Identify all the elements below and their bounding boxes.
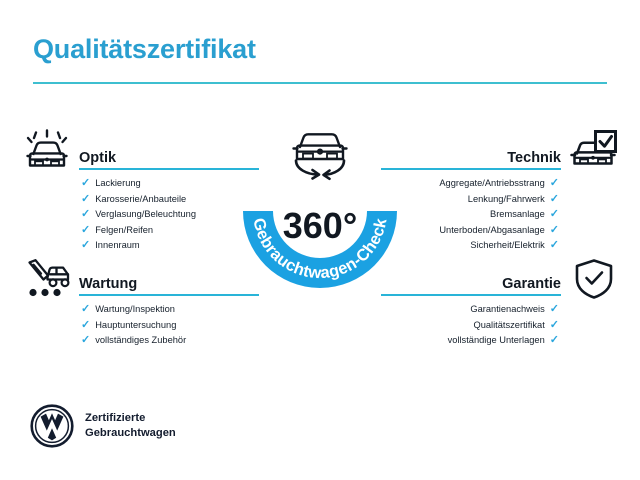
section-header: Wartung: [79, 269, 259, 295]
badge-center-label: 360°: [283, 205, 357, 246]
list-item-label: Sicherheit/Elektrik: [470, 241, 544, 250]
section-title: Wartung: [79, 276, 137, 292]
section-divider: [381, 168, 561, 170]
list-item: ✓ Hauptuntersuchung: [81, 318, 259, 334]
list-item-label: Bremsanlage: [490, 210, 545, 219]
list-item-label: Lackierung: [95, 179, 140, 188]
list-item: ✓ Felgen/Reifen: [81, 223, 259, 239]
car-checkbox-icon: [568, 129, 618, 173]
certificate-page: Qualitätszertifikat: [0, 0, 640, 480]
list-item: ✓ Verglasung/Beleuchtung: [81, 207, 259, 223]
vw-logo-icon: [30, 404, 74, 448]
check-icon: ✓: [550, 225, 559, 236]
check-icon: ✓: [550, 335, 559, 346]
list-item-label: Hauptuntersuchung: [95, 321, 176, 330]
section-header: Technik: [381, 143, 561, 169]
list-item: ✓ Innenraum: [81, 238, 259, 254]
check-icon: ✓: [81, 335, 90, 346]
list-item-label: Unterboden/Abgasanlage: [439, 226, 544, 235]
section-header: Optik: [79, 143, 259, 169]
section-title: Optik: [79, 150, 116, 166]
wrench-car-icon: [22, 257, 72, 301]
section-title: Garantie: [502, 276, 561, 292]
title-divider: [33, 82, 607, 84]
check-icon: ✓: [81, 304, 90, 315]
section-optik: Optik ✓ Lackierung ✓ Karosserie/Anbautei…: [79, 143, 259, 254]
check-icon: ✓: [550, 320, 559, 331]
section-header: Garantie: [381, 269, 561, 295]
shield-check-icon: [570, 257, 618, 301]
check-icon: ✓: [81, 209, 90, 220]
list-item: Qualitätszertifikat ✓: [381, 318, 559, 334]
list-item-label: Verglasung/Beleuchtung: [95, 210, 196, 219]
check-icon: ✓: [81, 320, 90, 331]
list-item: vollständige Unterlagen ✓: [381, 333, 559, 349]
check-icon: ✓: [550, 304, 559, 315]
list-item-label: Garantienachweis: [470, 305, 544, 314]
list-item: Aggregate/Antriebsstrang ✓: [381, 176, 559, 192]
list-item: ✓ vollständiges Zubehör: [81, 333, 259, 349]
list-item: ✓ Karosserie/Anbauteile: [81, 192, 259, 208]
list-item-label: Aggregate/Antriebsstrang: [439, 179, 544, 188]
car-shine-icon: [22, 129, 72, 173]
checklist: ✓ Wartung/Inspektion ✓ Hauptuntersuchung…: [79, 302, 259, 349]
check-icon: ✓: [81, 178, 90, 189]
list-item: ✓ Wartung/Inspektion: [81, 302, 259, 318]
list-item-label: Qualitätszertifikat: [473, 321, 544, 330]
list-item-label: vollständiges Zubehör: [95, 336, 186, 345]
list-item-label: Innenraum: [95, 241, 139, 250]
list-item-label: Felgen/Reifen: [95, 226, 153, 235]
check-icon: ✓: [550, 194, 559, 205]
footer-text: Zertifizierte Gebrauchtwagen: [85, 411, 176, 441]
section-divider: [79, 294, 259, 296]
list-item-label: vollständige Unterlagen: [448, 336, 545, 345]
page-title: Qualitätszertifikat: [33, 34, 256, 65]
footer-line-2: Gebrauchtwagen: [85, 426, 176, 441]
section-title: Technik: [507, 150, 561, 166]
check-icon: ✓: [81, 194, 90, 205]
car-rotate-icon: [284, 120, 356, 182]
checklist: Garantienachweis ✓ Qualitätszertifikat ✓…: [381, 302, 561, 349]
section-wartung: Wartung ✓ Wartung/Inspektion ✓ Hauptunte…: [79, 269, 259, 349]
check-icon: ✓: [550, 240, 559, 251]
footer-brand: Zertifizierte Gebrauchtwagen: [30, 404, 176, 448]
check-icon: ✓: [81, 225, 90, 236]
list-item: ✓ Lackierung: [81, 176, 259, 192]
check-icon: ✓: [550, 178, 559, 189]
list-item: Sicherheit/Elektrik ✓: [381, 238, 559, 254]
list-item: Garantienachweis ✓: [381, 302, 559, 318]
section-garantie: Garantie Garantienachweis ✓ Qualitätszer…: [381, 269, 561, 349]
list-item-label: Wartung/Inspektion: [95, 305, 175, 314]
check-icon: ✓: [81, 240, 90, 251]
list-item: Bremsanlage ✓: [381, 207, 559, 223]
section-divider: [79, 168, 259, 170]
checklist: ✓ Lackierung ✓ Karosserie/Anbauteile ✓ V…: [79, 176, 259, 254]
list-item: Unterboden/Abgasanlage ✓: [381, 223, 559, 239]
section-divider: [381, 294, 561, 296]
section-technik: Technik Aggregate/Antriebsstrang ✓ Lenku…: [381, 143, 561, 254]
list-item: Lenkung/Fahrwerk ✓: [381, 192, 559, 208]
footer-line-1: Zertifizierte: [85, 411, 176, 426]
checklist: Aggregate/Antriebsstrang ✓ Lenkung/Fahrw…: [381, 176, 561, 254]
list-item-label: Lenkung/Fahrwerk: [468, 195, 545, 204]
check-icon: ✓: [550, 209, 559, 220]
list-item-label: Karosserie/Anbauteile: [95, 195, 186, 204]
